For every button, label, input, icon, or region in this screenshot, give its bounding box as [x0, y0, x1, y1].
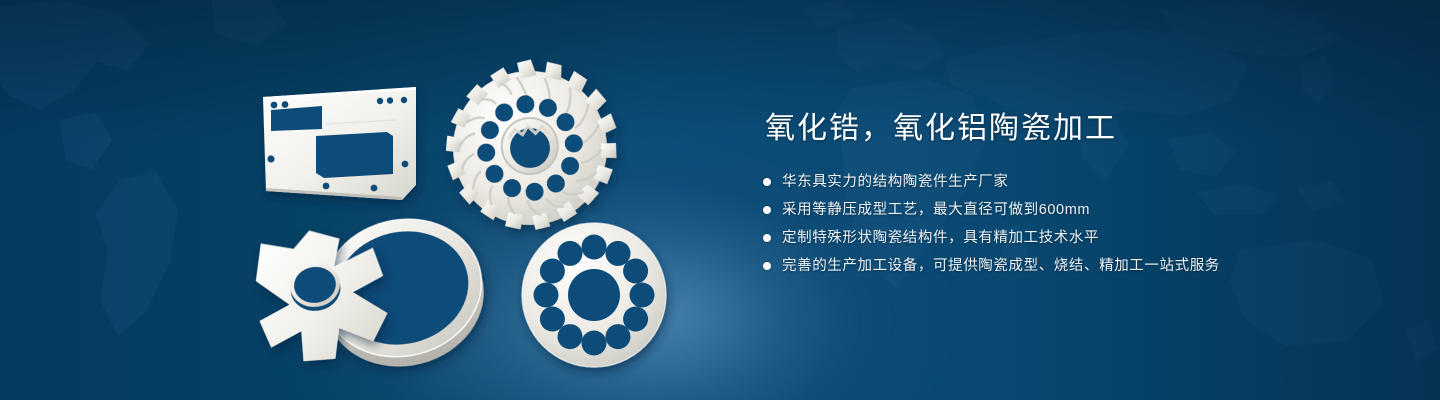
bullet-dot-icon: [763, 178, 771, 186]
list-item-label: 华东具实力的结构陶瓷件生产厂家: [782, 172, 1009, 192]
ceramic-flat-plate: [263, 87, 416, 200]
list-item: 采用等静压成型工艺，最大直径可做到600mm: [763, 200, 1363, 220]
bullet-dot-icon: [763, 206, 771, 214]
list-item-label: 采用等静压成型工艺，最大直径可做到600mm: [782, 200, 1090, 220]
list-item: 华东具实力的结构陶瓷件生产厂家: [763, 172, 1363, 192]
copy-block: 氧化锆，氧化铝陶瓷加工 华东具实力的结构陶瓷件生产厂家 采用等静压成型工艺，最大…: [763, 108, 1363, 284]
hero-banner: 氧化锆，氧化铝陶瓷加工 华东具实力的结构陶瓷件生产厂家 采用等静压成型工艺，最大…: [0, 0, 1440, 400]
list-item: 定制特殊形状陶瓷结构件，具有精加工技术水平: [763, 228, 1363, 248]
list-item-label: 完善的生产加工设备，可提供陶瓷成型、烧结、精加工一站式服务: [782, 256, 1220, 276]
feature-list: 华东具实力的结构陶瓷件生产厂家 采用等静压成型工艺，最大直径可做到600mm 定…: [763, 172, 1363, 276]
bullet-dot-icon: [763, 262, 771, 270]
bullet-dot-icon: [763, 234, 771, 242]
list-item: 完善的生产加工设备，可提供陶瓷成型、烧结、精加工一站式服务: [763, 256, 1363, 276]
ceramic-impeller-disc: [437, 51, 626, 238]
list-item-label: 定制特殊形状陶瓷结构件，具有精加工技术水平: [782, 228, 1099, 248]
page-title: 氧化锆，氧化铝陶瓷加工: [765, 108, 1363, 150]
ceramic-perforated-disc: [522, 223, 666, 367]
ceramic-products-image: [230, 40, 710, 390]
